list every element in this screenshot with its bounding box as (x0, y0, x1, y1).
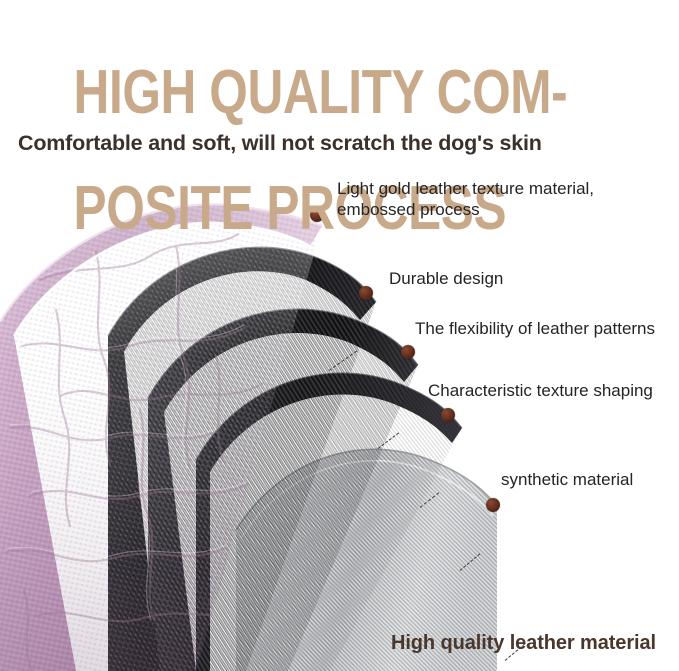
callout-marker-flexibility-leather-patterns[interactable] (401, 345, 415, 359)
callout-label-light-gold-leather: Light gold leather texture material, emb… (337, 178, 594, 220)
page-subtitle: Comfortable and soft, will not scratch t… (18, 131, 542, 156)
callout-label-synthetic-material: synthetic material (501, 469, 633, 490)
callout-label-durable-design: Durable design (389, 268, 503, 289)
footer-note: High quality leather material (391, 632, 656, 655)
callout-marker-synthetic-material[interactable] (486, 498, 500, 512)
product-infographic: HIGH QUALITY COM- POSITE PROCESS Comfort… (0, 0, 679, 671)
callout-label-characteristic-texture-shaping: Characteristic texture shaping (428, 380, 653, 401)
headline-line-1: HIGH QUALITY COM- (74, 58, 568, 127)
callout-label-flexibility-leather-patterns: The flexibility of leather patterns (415, 318, 655, 339)
callout-marker-characteristic-texture-shaping[interactable] (441, 408, 455, 422)
